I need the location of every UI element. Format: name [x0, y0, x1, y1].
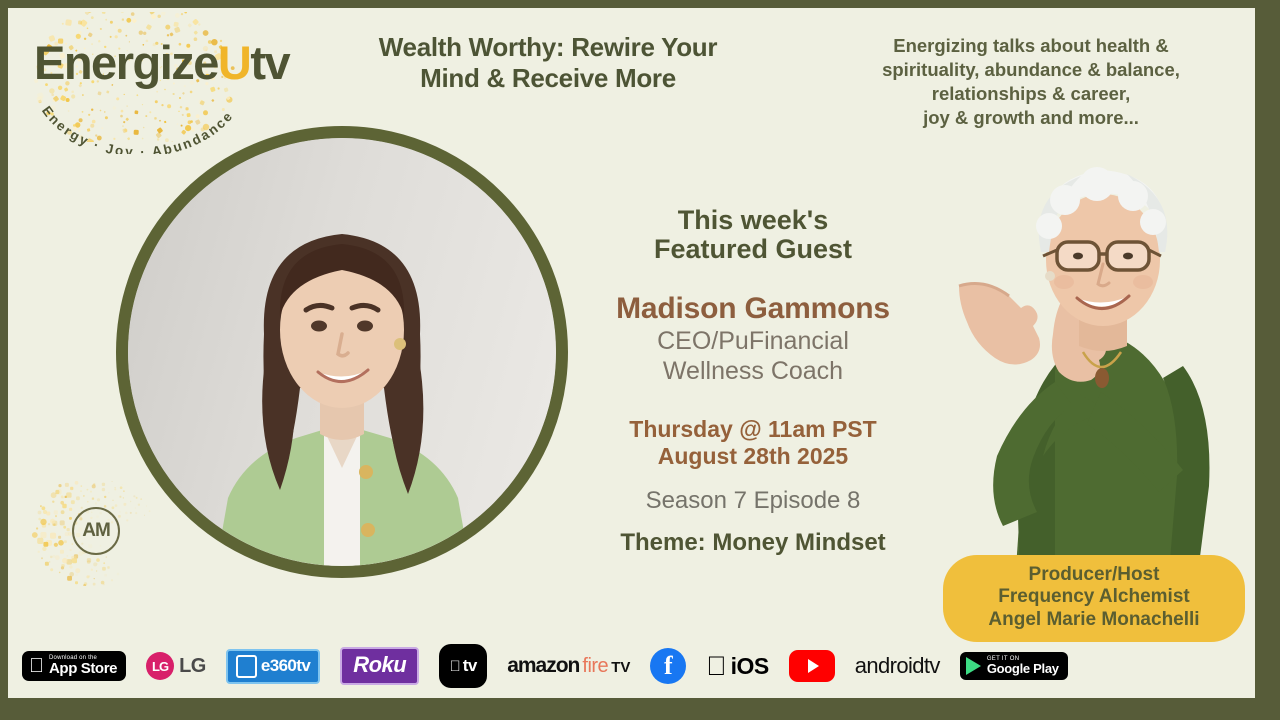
ios-badge[interactable]:  iOS	[706, 653, 768, 680]
firetv-tv-label: TV	[611, 659, 630, 676]
ios-label: iOS	[731, 653, 769, 680]
guest-photo	[116, 126, 568, 578]
platform-roku[interactable]: Roku	[340, 647, 419, 685]
show-title-line2: Mind & Receive More	[308, 63, 788, 94]
host-photo	[951, 156, 1251, 611]
lg-face-icon: LG	[146, 652, 174, 680]
app-store-badge[interactable]:  Download on the App Store	[22, 651, 126, 681]
season-episode: Season 7 Episode 8	[573, 487, 933, 516]
apple-tv-badge[interactable]:  tv	[439, 644, 487, 688]
facebook-icon[interactable]: f	[650, 648, 686, 684]
host-badge-title: Frequency Alchemist	[953, 586, 1235, 608]
promo-poster: EnergizeUtv Energy · Joy · Abundance Wea…	[0, 0, 1280, 720]
platform-lg[interactable]: LG LG	[146, 652, 206, 680]
guest-name: Madison Gammons	[573, 292, 933, 325]
guest-photo-inner	[128, 138, 556, 566]
apple-tv-label: tv	[463, 656, 477, 676]
youtube-icon[interactable]	[789, 650, 835, 682]
energizeu-logo: EnergizeUtv Energy · Joy · Abundance	[16, 12, 316, 142]
host-badge-role: Producer/Host	[953, 564, 1235, 586]
apple-icon: 	[706, 653, 726, 680]
host-badge: Producer/Host Frequency Alchemist Angel …	[943, 555, 1245, 642]
episode-theme: Theme: Money Mindset	[573, 529, 933, 558]
poster-canvas: EnergizeUtv Energy · Joy · Abundance Wea…	[8, 8, 1255, 698]
apple-icon: 	[450, 658, 461, 675]
fire-label: fire	[582, 655, 608, 678]
e360tv-badge[interactable]: e360tv	[226, 649, 320, 684]
lg-label: LG	[179, 655, 206, 678]
featured-line2: Featured Guest	[573, 235, 933, 264]
host-portrait-illustration	[951, 156, 1251, 611]
guest-role: CEO/PuFinancial Wellness Coach	[573, 327, 933, 386]
platform-logo-strip:  Download on the App Store LG LG e360tv	[8, 640, 1255, 692]
schedule-time: Thursday @ 11am PST	[573, 416, 933, 443]
google-play-icon	[966, 657, 981, 675]
am-monogram-label: AM	[72, 507, 120, 555]
show-title: Wealth Worthy: Rewire Your Mind & Receiv…	[308, 32, 788, 93]
google-play-label: Google Play	[987, 662, 1059, 675]
platform-facebook[interactable]: f	[650, 648, 686, 684]
platform-google-play[interactable]: GET IT ON Google Play	[960, 652, 1068, 680]
platform-android-tv[interactable]: androidtv	[855, 653, 940, 679]
guest-role-line1: CEO/PuFinancial	[573, 327, 933, 357]
schedule-date: August 28th 2025	[573, 443, 933, 470]
android-tv-label[interactable]: androidtv	[855, 653, 940, 679]
play-triangle-icon	[808, 659, 819, 673]
episode-schedule: Thursday @ 11am PST August 28th 2025	[573, 416, 933, 469]
amazon-fire-tv-badge[interactable]: amazon fire TV	[507, 654, 630, 678]
logo-word-tv: tv	[250, 36, 289, 89]
tagline-line3: relationships & career,	[821, 82, 1241, 106]
roku-badge[interactable]: Roku	[340, 647, 419, 685]
show-title-line1: Wealth Worthy: Rewire Your	[308, 32, 788, 63]
platform-youtube[interactable]	[789, 650, 835, 682]
platform-app-store[interactable]:  Download on the App Store	[22, 651, 126, 681]
tagline-line2: spirituality, abundance & balance,	[821, 58, 1241, 82]
guest-info: This week's Featured Guest Madison Gammo…	[573, 206, 933, 558]
lg-badge[interactable]: LG LG	[146, 652, 206, 680]
platform-e360tv[interactable]: e360tv	[226, 649, 320, 684]
apple-icon: 	[29, 656, 44, 676]
e360tv-mark-icon	[236, 655, 257, 678]
host-badge-name: Angel Marie Monachelli	[953, 609, 1235, 631]
platform-ios[interactable]:  iOS	[706, 653, 768, 680]
featured-line1: This week's	[573, 206, 933, 235]
app-store-label: App Store	[49, 661, 117, 676]
tagline-line1: Energizing talks about health &	[821, 34, 1241, 58]
google-play-badge[interactable]: GET IT ON Google Play	[960, 652, 1068, 680]
platform-apple-tv[interactable]:  tv	[439, 644, 487, 688]
tagline-line4: joy & growth and more...	[821, 106, 1241, 130]
platform-amazon-fire-tv[interactable]: amazon fire TV	[507, 654, 630, 678]
guest-role-line2: Wellness Coach	[573, 357, 933, 387]
google-play-text: GET IT ON Google Play	[987, 656, 1059, 675]
channel-tagline: Energizing talks about health & spiritua…	[821, 34, 1241, 130]
amazon-label: amazon	[507, 654, 579, 678]
featured-guest-heading: This week's Featured Guest	[573, 206, 933, 264]
am-monogram-mark: AM	[22, 481, 152, 586]
app-store-text: Download on the App Store	[49, 655, 117, 676]
e360tv-label: e360tv	[261, 656, 310, 676]
guest-portrait-illustration	[128, 138, 556, 566]
